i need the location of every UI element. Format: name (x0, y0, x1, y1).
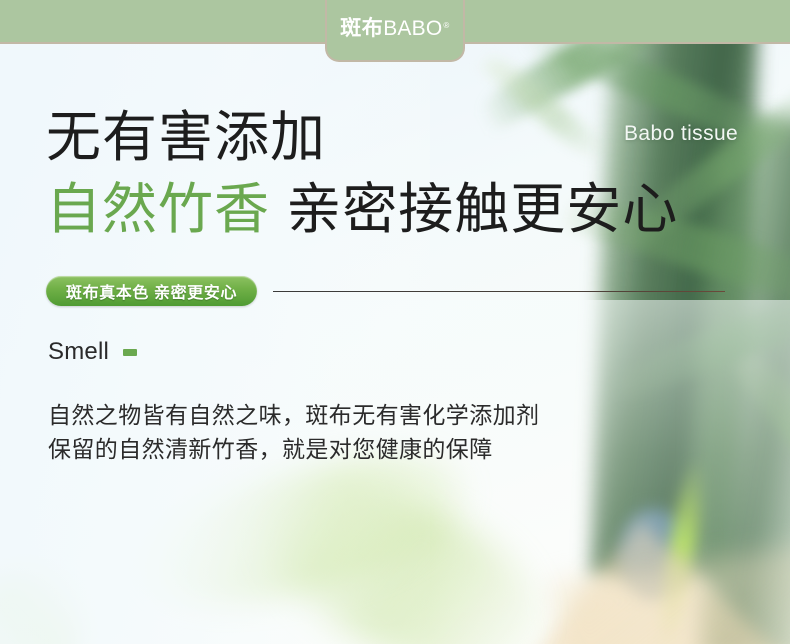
slogan-badge: 斑布真本色 亲密更安心 (46, 276, 257, 306)
headline-secondary: 自然竹香 亲密接触更安心 (46, 182, 678, 237)
headline-primary: 无有害添加 (46, 110, 326, 165)
section-label: Smell (48, 338, 109, 366)
headline-secondary-dark: 亲密接触更安心 (286, 178, 678, 240)
divider-rule (273, 291, 725, 292)
slogan-badge-row: 斑布真本色 亲密更安心 (46, 276, 746, 306)
brand-watermark: Babo tissue (624, 122, 738, 146)
section-heading-smell: Smell (48, 338, 137, 366)
body-paragraph-line-1: 自然之物皆有自然之味，斑布无有害化学添加剂 (48, 398, 539, 432)
product-banner-page: 斑布BABO® 无有害添加 自然竹香 亲密接触更安心 Babo tissue 斑… (0, 0, 790, 644)
body-paragraph: 自然之物皆有自然之味，斑布无有害化学添加剂 保留的自然清新竹香，就是对您健康的保… (48, 398, 539, 466)
dash-accent-icon (123, 349, 137, 356)
headline-secondary-green: 自然竹香 (46, 178, 270, 240)
body-paragraph-line-2: 保留的自然清新竹香，就是对您健康的保障 (48, 432, 539, 466)
banner-content: 无有害添加 自然竹香 亲密接触更安心 Babo tissue 斑布真本色 亲密更… (0, 0, 790, 644)
